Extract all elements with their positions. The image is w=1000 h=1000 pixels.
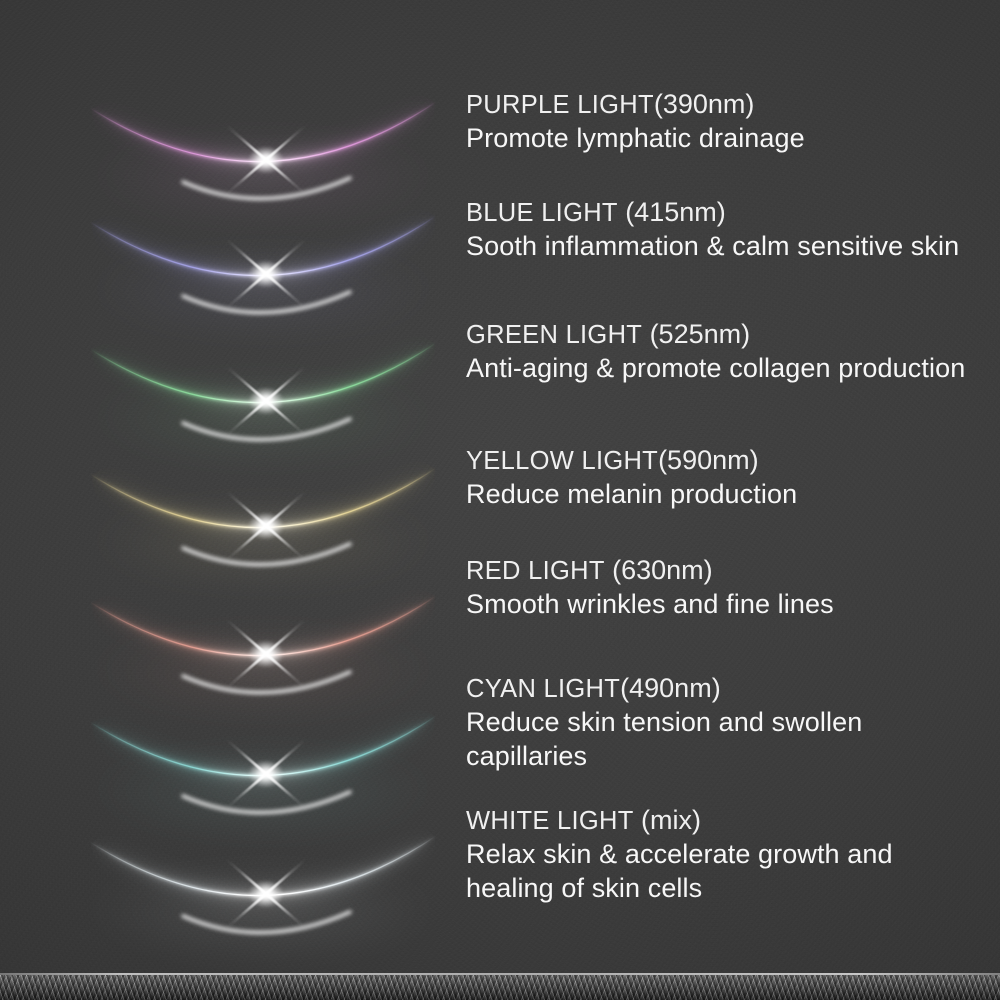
light-description-cyan: Reduce skin tension and swollen capillar… [466, 706, 966, 773]
light-title-wavelength-blue: (415nm) [625, 197, 726, 227]
light-title-wavelength-red: (630nm) [612, 555, 713, 585]
light-title-name-cyan: CYAN LIGHT [466, 675, 620, 703]
light-beam-purple [88, 86, 438, 206]
light-therapy-infographic: PURPLE LIGHT(390nm)Promote lymphatic dra… [0, 0, 1000, 1000]
light-description-red: Smooth wrinkles and fine lines [466, 588, 966, 622]
light-beam-white [88, 820, 438, 940]
light-title-name-white: WHITE LIGHT [466, 807, 634, 835]
light-title-yellow: YELLOW LIGHT(590nm) [466, 444, 966, 478]
light-title-name-purple: PURPLE LIGHT [466, 91, 654, 119]
light-title-white: WHITE LIGHT (mix) [466, 804, 966, 838]
light-title-name-blue: BLUE LIGHT [466, 199, 618, 227]
bottom-edge-texture-strip [0, 975, 1000, 1000]
light-title-wavelength-white: (mix) [641, 805, 701, 835]
light-beam-yellow [88, 452, 438, 572]
light-title-green: GREEN LIGHT (525nm) [466, 318, 966, 352]
light-description-blue: Sooth inflammation & calm sensitive skin [466, 230, 966, 264]
light-title-cyan: CYAN LIGHT(490nm) [466, 672, 966, 706]
light-beam-blue [88, 200, 438, 320]
light-beam-green [88, 327, 438, 447]
light-title-red: RED LIGHT (630nm) [466, 554, 966, 588]
light-description-yellow: Reduce melanin production [466, 478, 966, 512]
light-title-purple: PURPLE LIGHT(390nm) [466, 88, 966, 122]
light-title-wavelength-yellow: (590nm) [658, 445, 759, 475]
light-title-name-red: RED LIGHT [466, 557, 605, 585]
light-title-wavelength-cyan: (490nm) [620, 673, 721, 703]
light-info-green: GREEN LIGHT (525nm)Anti-aging & promote … [466, 318, 966, 386]
light-title-blue: BLUE LIGHT (415nm) [466, 196, 966, 230]
light-description-green: Anti-aging & promote collagen production [466, 352, 966, 386]
light-title-name-yellow: YELLOW LIGHT [466, 447, 658, 475]
light-info-red: RED LIGHT (630nm)Smooth wrinkles and fin… [466, 554, 966, 622]
light-info-purple: PURPLE LIGHT(390nm)Promote lymphatic dra… [466, 88, 966, 156]
light-info-white: WHITE LIGHT (mix)Relax skin & accelerate… [466, 804, 966, 905]
light-info-yellow: YELLOW LIGHT(590nm)Reduce melanin produc… [466, 444, 966, 512]
light-description-white: Relax skin & accelerate growth and heali… [466, 838, 966, 905]
light-beam-cyan [88, 700, 438, 820]
light-beam-red [88, 580, 438, 700]
light-info-blue: BLUE LIGHT (415nm)Sooth inflammation & c… [466, 196, 966, 264]
light-title-wavelength-green: (525nm) [650, 319, 751, 349]
light-description-purple: Promote lymphatic drainage [466, 122, 966, 156]
light-title-name-green: GREEN LIGHT [466, 321, 642, 349]
edge-strip-shading [0, 975, 1000, 1000]
light-info-cyan: CYAN LIGHT(490nm)Reduce skin tension and… [466, 672, 966, 773]
beam-arc-white [88, 820, 438, 970]
light-title-wavelength-purple: (390nm) [654, 89, 755, 119]
